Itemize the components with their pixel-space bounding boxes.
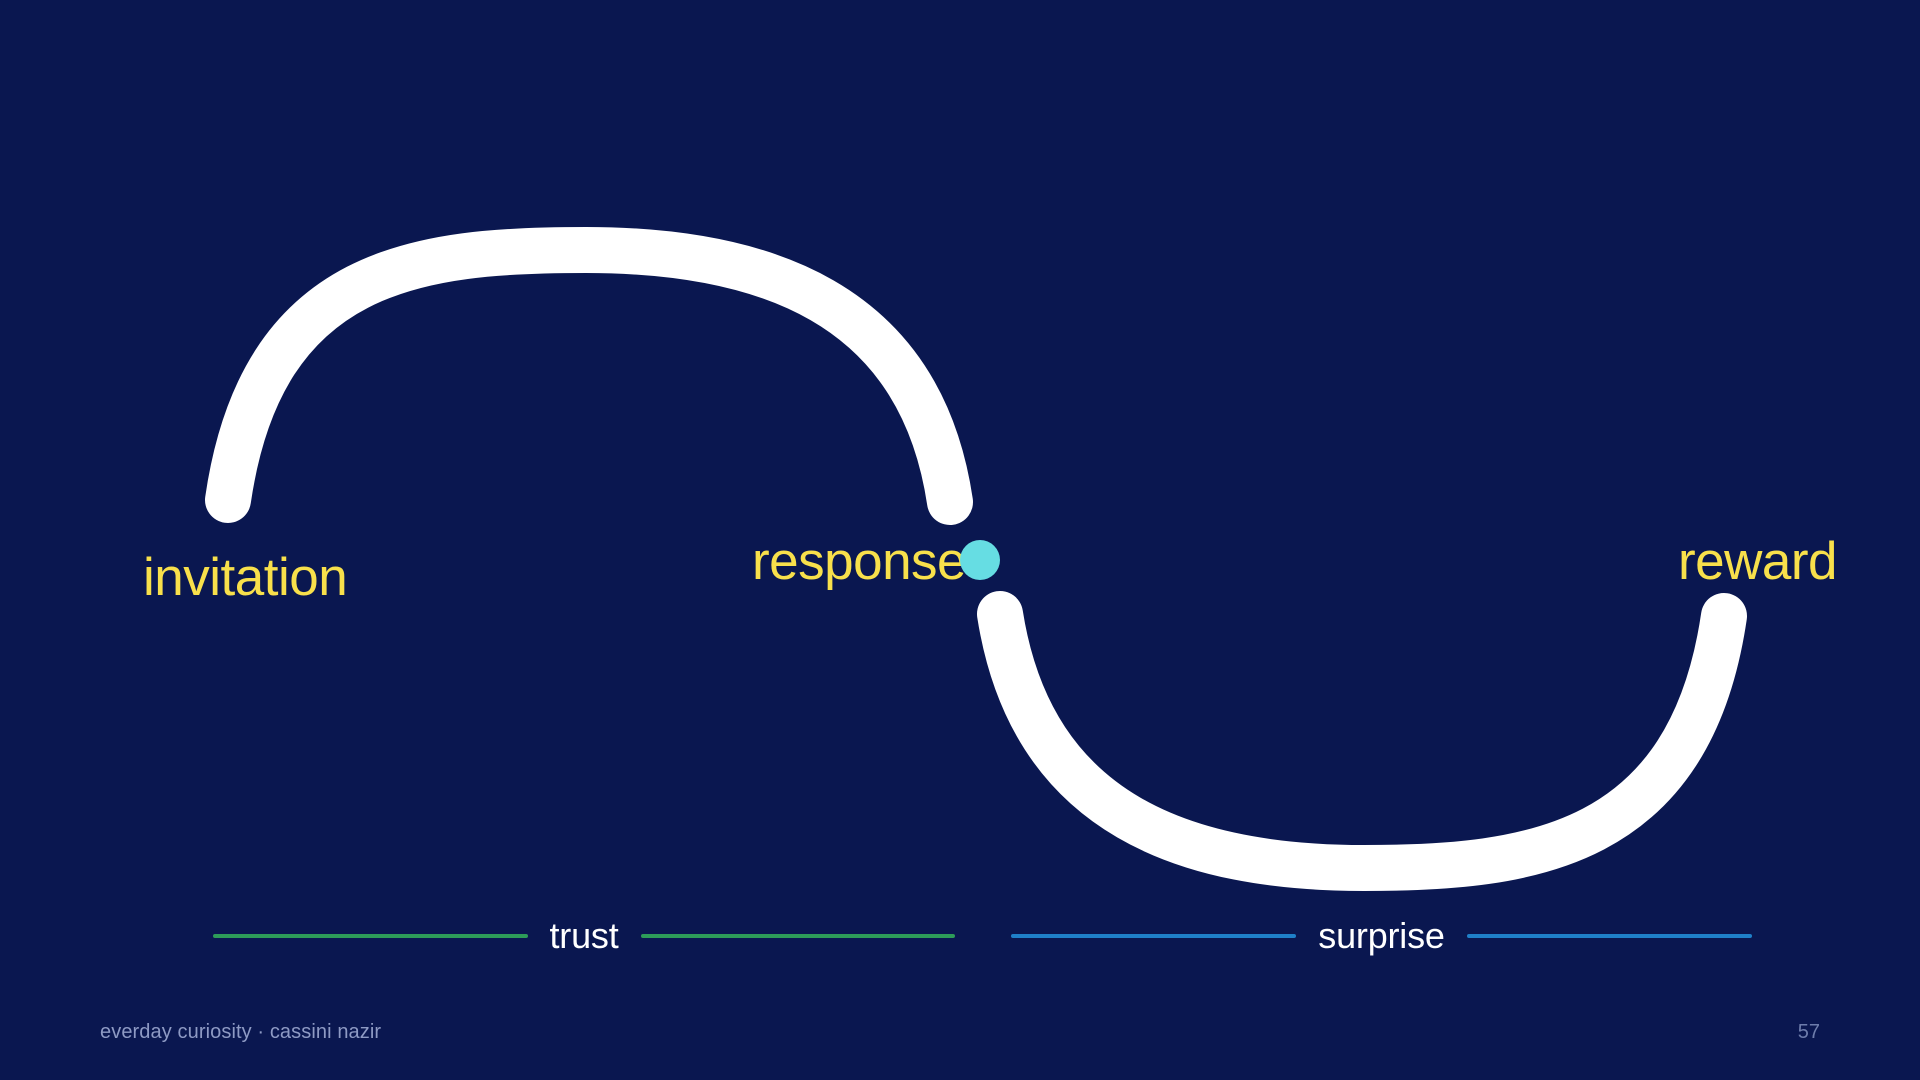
surprise-rule-left — [1011, 934, 1296, 938]
phase-label-invitation: invitation — [143, 551, 347, 604]
response-marker-dot — [960, 540, 1000, 580]
slide-footer: everday curiosity · cassini nazir 57 — [0, 1018, 1920, 1058]
trust-rule-left — [213, 934, 528, 938]
trust-rule-right — [641, 934, 956, 938]
footer-page-number: 57 — [1798, 1018, 1820, 1046]
axis-label-trust: trust — [528, 918, 641, 954]
slide-canvas: invitation response reward trust surpris… — [0, 0, 1920, 1080]
phase-label-reward: reward — [1678, 535, 1837, 588]
footer-credit: everday curiosity · cassini nazir — [100, 1018, 381, 1046]
axis-surprise: surprise — [1011, 916, 1752, 956]
axis-label-surprise: surprise — [1296, 918, 1466, 954]
response-to-reward-arc — [1000, 614, 1724, 868]
surprise-rule-right — [1467, 934, 1752, 938]
invitation-to-response-arc — [228, 250, 950, 502]
phase-label-response: response — [752, 535, 966, 588]
axis-trust: trust — [213, 916, 955, 956]
